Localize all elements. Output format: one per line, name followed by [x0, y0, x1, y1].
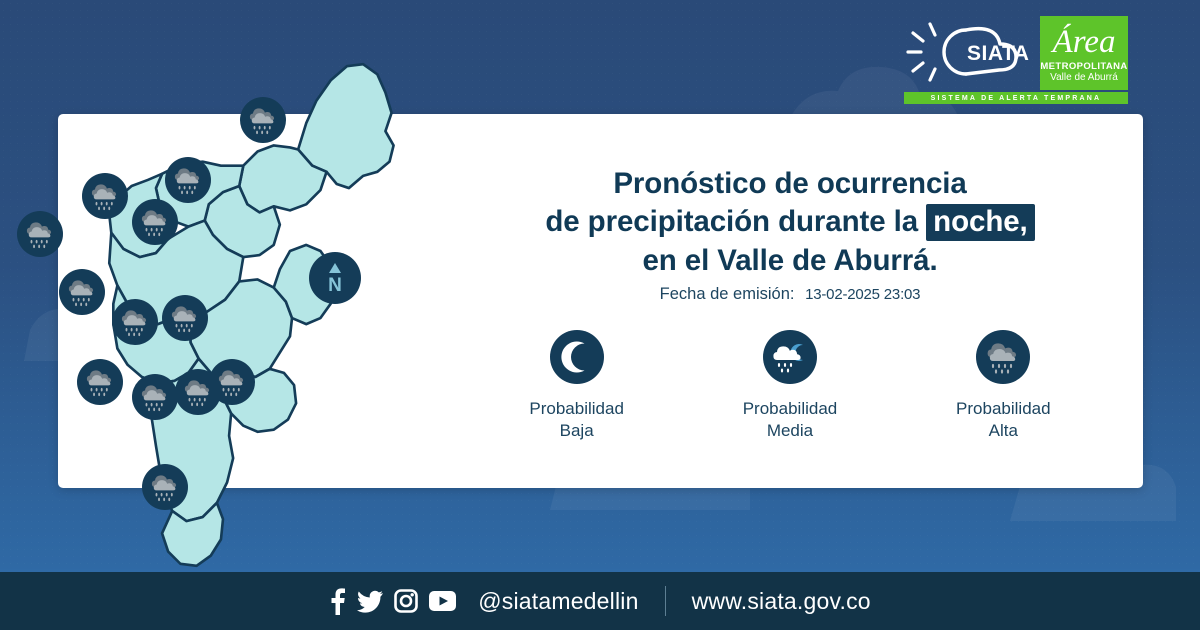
website-url[interactable]: www.siata.gov.co	[692, 588, 871, 615]
station-san-pedro-cloud-rain-heavy-icon	[17, 211, 63, 257]
station-copacabana-cloud-rain-heavy-icon	[132, 199, 178, 245]
infographic-root: SIATA Área METROPOLITANA Valle de Aburrá…	[0, 0, 1200, 630]
valle-de-aburra-map: N	[55, 52, 525, 580]
legend-label-alta: Probabilidad Alta	[956, 398, 1051, 442]
station-caldas-cloud-rain-heavy-icon	[142, 464, 188, 510]
station-girardota-cloud-rain-heavy-icon	[165, 157, 211, 203]
station-barbosa-cloud-rain-heavy-icon	[240, 97, 286, 143]
legend-item-media: Probabilidad Media	[695, 330, 885, 442]
station-bello-cloud-rain-heavy-icon	[59, 269, 105, 315]
station-envigado-cloud-rain-heavy-icon	[77, 359, 123, 405]
area-logo-line2: Valle de Aburrá	[1050, 72, 1118, 84]
siata-tagline-strip: SISTEMA DE ALERTA TEMPRANA	[904, 92, 1128, 104]
instagram-icon[interactable]	[394, 589, 418, 613]
station-la-estrella-cloud-rain-heavy-icon	[209, 359, 255, 405]
youtube-icon[interactable]	[429, 591, 456, 611]
page-title: Pronóstico de ocurrencia de precipitació…	[470, 165, 1110, 280]
compass-rose: N	[309, 252, 361, 304]
legend-label-media: Probabilidad Media	[743, 398, 838, 442]
area-logo-line1: METROPOLITANA	[1040, 62, 1127, 72]
station-itagui-cloud-rain-heavy-icon	[132, 374, 178, 420]
facebook-icon[interactable]	[329, 588, 346, 615]
station-medellin-cloud-rain-heavy-icon	[162, 295, 208, 341]
legend-item-alta: Probabilidad Alta	[908, 330, 1098, 442]
area-logo-script: Área	[1045, 18, 1123, 62]
moon-icon	[550, 330, 604, 384]
logo-group: SIATA Área METROPOLITANA Valle de Aburrá	[904, 16, 1128, 90]
headline-line-2: de precipitación durante la noche,	[470, 203, 1110, 241]
headline-line-3: en el Valle de Aburrá.	[470, 242, 1110, 280]
siata-logo-text: SIATA	[967, 42, 1029, 65]
legend-label-baja: Probabilidad Baja	[529, 398, 624, 442]
footer: @siatamedellin www.siata.gov.co	[0, 572, 1200, 630]
headline-line-2-text: de precipitación durante la	[545, 205, 918, 238]
siata-logo: SIATA	[904, 16, 1032, 88]
issue-date-label: Fecha de emisión:	[660, 285, 795, 303]
area-script-text: Área	[1051, 23, 1116, 60]
compass-label: N	[328, 275, 342, 296]
area-metropolitana-logo: Área METROPOLITANA Valle de Aburrá	[1040, 16, 1128, 90]
probability-legend: Probabilidad Baja Probabilidad Media	[470, 330, 1110, 442]
cloud-rain-heavy-icon	[976, 330, 1030, 384]
issue-date: Fecha de emisión: 13-02-2025 23:03	[470, 285, 1110, 304]
twitter-icon[interactable]	[357, 588, 383, 615]
headline-line-1: Pronóstico de ocurrencia	[470, 165, 1110, 203]
station-bello-norte-cloud-rain-heavy-icon	[82, 173, 128, 219]
issue-date-value: 13-02-2025 23:03	[805, 286, 920, 303]
station-medellin-norte-cloud-rain-heavy-icon	[112, 299, 158, 345]
social-handle[interactable]: @siatamedellin	[478, 588, 638, 615]
footer-divider	[665, 586, 666, 616]
legend-item-baja: Probabilidad Baja	[482, 330, 672, 442]
headline-highlight: noche,	[926, 204, 1034, 241]
cloud-rain-moon-icon	[763, 330, 817, 384]
siata-tagline-text: SISTEMA DE ALERTA TEMPRANA	[931, 95, 1102, 102]
social-icons	[329, 588, 456, 615]
